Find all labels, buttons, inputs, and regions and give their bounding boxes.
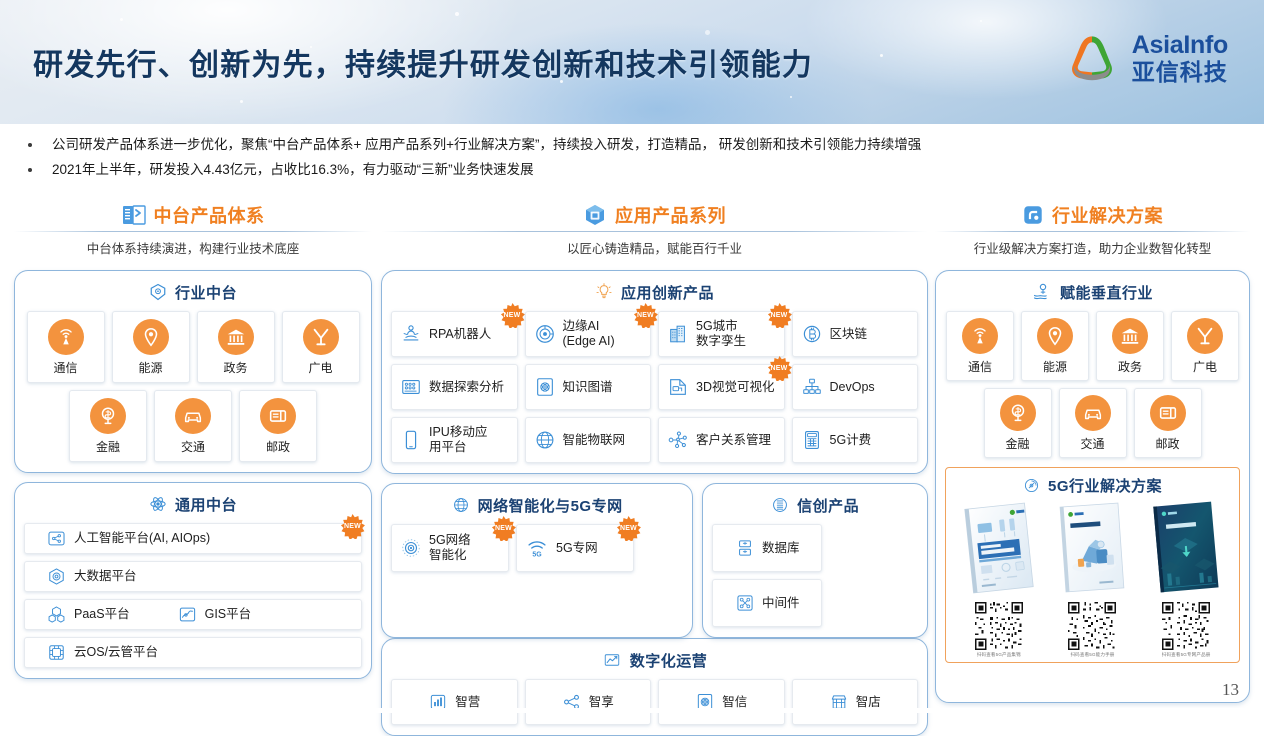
industry-tile-row: 通信 能源 政务 广电	[24, 311, 362, 383]
panel-digital-operations: 数字化运营 智营 智享 智信 智店	[381, 638, 928, 736]
panel-header: 应用创新产品	[391, 279, 918, 305]
logo-text-en: AsiaInfo	[1132, 33, 1228, 58]
panel-xinchuang: 信创产品 数据库 中间件	[702, 483, 928, 638]
industry-tile-nengyuan[interactable]: 能源	[1021, 311, 1089, 381]
broadcast-icon	[303, 319, 339, 355]
qr-code	[1162, 602, 1210, 650]
cloud-os-icon	[47, 643, 66, 662]
industry-tile-label: 能源	[138, 359, 162, 376]
data-explore-icon	[400, 376, 422, 398]
app-chip-edge-ai[interactable]: 边缘AI (Edge AI) NEW	[525, 311, 652, 357]
document-stack-icon	[771, 496, 789, 514]
industry-tile-zhengwu[interactable]: 政务	[197, 311, 275, 383]
panel-title: 通用中台	[175, 494, 237, 515]
industry-tile-tongxin[interactable]: 通信	[946, 311, 1014, 381]
brochure-row: 扫码查看5G产品集锦	[952, 500, 1233, 658]
platform-row-label: 大数据平台	[74, 569, 137, 584]
app-chip-label: IPU移动应 用平台	[429, 425, 487, 455]
panel-title: 数字化运营	[630, 650, 708, 671]
panel-title: 信创产品	[797, 495, 859, 516]
panel-header: 信创产品	[712, 492, 918, 518]
xc-chip-database[interactable]: 数据库	[712, 524, 822, 572]
platform-row-paas-gis[interactable]: PaaS平台 GIS平台	[24, 599, 362, 630]
app-chip-devops[interactable]: DevOps	[792, 364, 919, 410]
brochure-cover	[1145, 500, 1227, 596]
crm-node-icon	[667, 429, 689, 451]
broadcast-icon	[1187, 318, 1223, 354]
gis-icon	[178, 605, 197, 624]
network-radar-icon	[400, 537, 422, 559]
brochure-item[interactable]: 扫码查看5G产品集锦	[958, 500, 1040, 658]
xinchuang-chip-row: 数据库 中间件	[712, 524, 918, 627]
app-chip-label: 数据探索分析	[429, 380, 504, 395]
industry-tile-guangdian[interactable]: 广电	[282, 311, 360, 383]
platform-row-label: 云OS/云管平台	[74, 645, 158, 660]
column-subtitle: 中台体系持续演进，构建行业技术底座	[14, 230, 372, 263]
panel-vertical-industries: 赋能垂直行业 通信 能源	[935, 270, 1250, 703]
industry-tile-label: 能源	[1043, 358, 1067, 375]
ops-chip-zhidian[interactable]: 智店	[792, 679, 919, 725]
brochure-item[interactable]: 扫码查看5G专网产品册	[1145, 500, 1227, 658]
new-badge: NEW	[491, 516, 516, 541]
app-chip-label: DevOps	[830, 380, 875, 395]
ops-chip-zhixiang[interactable]: 智享	[525, 679, 652, 725]
app-chip-knowledge-graph[interactable]: 知识图谱	[525, 364, 652, 410]
bullet-dot-icon	[28, 168, 32, 172]
industry-tile-zhengwu[interactable]: 政务	[1096, 311, 1164, 381]
app-chip-label: 区块链	[830, 327, 868, 342]
industry-tile-label: 通信	[968, 358, 992, 375]
xc-chip-label: 中间件	[762, 596, 800, 611]
enable-hand-icon	[1032, 282, 1052, 302]
database-icon	[735, 538, 755, 558]
app-chip-label: 5G城市 数字孪生	[696, 319, 746, 349]
qr-caption: 扫码查看5G专网产品册	[1145, 652, 1227, 658]
bullet-item: 2021年上半年，研发投入4.43亿元，占收比16.3%，有力驱动“三新”业务快…	[0, 157, 1264, 182]
car-icon	[175, 398, 211, 434]
bank-icon	[218, 319, 254, 355]
xc-chip-label: 数据库	[762, 541, 800, 556]
panel-header: 网络智能化与5G专网	[391, 492, 683, 518]
industry-tile-label: 广电	[1193, 358, 1217, 375]
car-icon	[1075, 395, 1111, 431]
industry-tile-guangdian[interactable]: 广电	[1171, 311, 1239, 381]
ops-chip-zhixin[interactable]: 智信	[658, 679, 785, 725]
panel-header: 行业中台	[24, 279, 362, 305]
globe-net-icon	[534, 429, 556, 451]
column-middle-platform: 中台产品体系 中台体系持续演进，构建行业技术底座 行业中台 通信	[14, 200, 372, 679]
panel-title: 行业中台	[175, 282, 237, 303]
industry-tile-label: 邮政	[1155, 435, 1179, 452]
qr-caption: 扫码查看5G能力手册	[1051, 652, 1133, 658]
ai-share-icon	[47, 529, 66, 548]
money-icon	[1000, 395, 1036, 431]
brochure-cover	[1051, 500, 1133, 596]
lightbulb-icon	[595, 283, 613, 301]
robot-icon	[400, 323, 422, 345]
industry-tile-label: 广电	[308, 359, 332, 376]
solution-square-icon	[1022, 204, 1044, 226]
app-chip-label: 5G计费	[830, 433, 872, 448]
5g-disc-icon	[1023, 477, 1040, 494]
platform-subitem-label: GIS平台	[205, 607, 252, 622]
column-application-products: 应用产品系列 以匠心铸造精品，赋能百行千业 应用创新产品 RPA机器人 NEW	[381, 200, 928, 736]
3d-view-icon	[667, 376, 689, 398]
industry-tile-row: 金融 交通 邮政	[24, 390, 362, 462]
footer-divider	[0, 708, 1264, 713]
bullet-dot-icon	[28, 143, 32, 147]
app-chip-label: 智能物联网	[563, 433, 626, 448]
mailbox-icon	[260, 398, 296, 434]
location-pin-icon	[133, 319, 169, 355]
industry-tile-jinrong[interactable]: 金融	[984, 388, 1052, 458]
atom-icon	[149, 495, 167, 513]
panel-5g-solutions: 5G行业解决方案	[945, 467, 1240, 663]
asiainfo-logo: AsiaInfo 亚信科技	[1062, 28, 1228, 88]
industry-tile-jiaotong[interactable]: 交通	[154, 390, 232, 462]
net-chip-5g-intelligent[interactable]: 5G网络 智能化 NEW	[391, 524, 509, 572]
panel-header: 赋能垂直行业	[945, 279, 1240, 305]
bullet-text: 2021年上半年，研发投入4.43亿元，占收比16.3%，有力驱动“三新”业务快…	[52, 159, 534, 180]
cube-box-icon	[583, 203, 607, 227]
panel-general-platform: 通用中台 人工智能平台(AI, AIOps) NEW 大数据平台	[14, 482, 372, 679]
industry-tile-label: 金融	[96, 438, 120, 455]
app-chip-blockchain[interactable]: 区块链	[792, 311, 919, 357]
shield-hex-icon	[149, 283, 167, 301]
column-title: 中台产品体系	[154, 202, 265, 228]
digital-ops-grid: 智营 智享 智信 智店	[391, 679, 918, 725]
panel-header: 通用中台	[24, 491, 362, 517]
qr-code	[975, 602, 1023, 650]
industry-tile-youzheng[interactable]: 邮政	[239, 390, 317, 462]
industry-tile-label: 交通	[1080, 435, 1104, 452]
app-chip-label: RPA机器人	[429, 327, 491, 342]
bank-icon	[1112, 318, 1148, 354]
app-chip-3d-visual[interactable]: 3D视觉可视化 NEW	[658, 364, 785, 410]
paas-icon	[47, 605, 66, 624]
ops-chip-zhiying[interactable]: 智营	[391, 679, 518, 725]
bullet-text: 公司研发产品体系进一步优化，聚焦“中台产品体系+ 应用产品系列+行业解决方案”，…	[52, 134, 921, 155]
column-industry-solutions: 行业解决方案 行业级解决方案打造，助力企业数智化转型 赋能垂直行业 通信	[935, 200, 1250, 703]
net-chip-label: 5G专网	[556, 541, 598, 556]
column-header: 中台产品体系	[14, 200, 372, 230]
industry-tile-label: 邮政	[266, 438, 290, 455]
platform-row-cloudos[interactable]: 云OS/云管平台	[24, 637, 362, 668]
industry-tile-label: 政务	[1118, 358, 1142, 375]
chart-trend-icon	[602, 651, 622, 669]
mailbox-icon	[1150, 395, 1186, 431]
qr-caption: 扫码查看5G产品集锦	[958, 652, 1040, 658]
network-chip-row: 5G网络 智能化 NEW 5G 5G专网 NEW	[391, 524, 683, 572]
industry-tile-label: 金融	[1005, 435, 1029, 452]
new-badge: NEW	[340, 514, 365, 539]
industry-tile-row: 金融 交通 邮政	[945, 388, 1240, 458]
app-chip-iot[interactable]: 智能物联网	[525, 417, 652, 463]
devops-tree-icon	[801, 376, 823, 398]
column-subtitle: 行业级解决方案打造，助力企业数智化转型	[935, 230, 1250, 263]
globe-grid-icon	[452, 496, 470, 514]
industry-tile-tongxin[interactable]: 通信	[27, 311, 105, 383]
svg-text:5G: 5G	[532, 552, 541, 559]
industry-tile-nengyuan[interactable]: 能源	[112, 311, 190, 383]
panel-header: 数字化运营	[391, 647, 918, 673]
column-title: 应用产品系列	[615, 202, 726, 228]
panel-row-network-xinchuang: 网络智能化与5G专网 5G网络 智能化 NEW 5G 5G专网 NEW	[381, 483, 928, 638]
platform-subitem-label: PaaS平台	[74, 607, 130, 622]
industry-tile-row: 通信 能源 政务 广电	[945, 311, 1240, 381]
edge-ai-icon	[534, 323, 556, 345]
xc-chip-middleware[interactable]: 中间件	[712, 579, 822, 627]
new-badge: NEW	[767, 303, 792, 328]
page-title: 研发先行、创新为先，持续提升研发创新和技术引领能力	[33, 40, 813, 84]
panel-title: 赋能垂直行业	[1060, 282, 1153, 303]
location-pin-icon	[1037, 318, 1073, 354]
wifi-5g-icon: 5G	[525, 537, 549, 559]
platform-row-bigdata[interactable]: 大数据平台	[24, 561, 362, 592]
app-chip-5g-city-twin[interactable]: 5G城市 数字孪生 NEW	[658, 311, 785, 357]
city-building-icon	[667, 323, 689, 345]
brochure-item[interactable]: 扫码查看5G能力手册	[1051, 500, 1133, 658]
page-number: 13	[1222, 680, 1239, 700]
app-chip-rpa[interactable]: RPA机器人 NEW	[391, 311, 518, 357]
qr-code	[1068, 602, 1116, 650]
industry-tile-label: 交通	[181, 438, 205, 455]
signal-tower-icon	[48, 319, 84, 355]
app-chip-label: 3D视觉可视化	[696, 380, 774, 395]
column-header: 应用产品系列	[381, 200, 928, 230]
app-chip-label: 客户关系管理	[696, 433, 771, 448]
middle-platform-icon	[122, 204, 146, 226]
industry-tile-label: 通信	[53, 359, 77, 376]
new-badge: NEW	[616, 516, 641, 541]
bigdata-icon	[47, 567, 66, 586]
platform-row-ai[interactable]: 人工智能平台(AI, AIOps) NEW	[24, 523, 362, 554]
app-chip-label: 知识图谱	[563, 380, 613, 395]
signal-tower-icon	[962, 318, 998, 354]
bullet-list: 公司研发产品体系进一步优化，聚焦“中台产品体系+ 应用产品系列+行业解决方案”，…	[0, 132, 1264, 182]
industry-tile-youzheng[interactable]: 邮政	[1134, 388, 1202, 458]
new-badge: NEW	[767, 356, 792, 381]
content-columns: 中台产品体系 中台体系持续演进，构建行业技术底座 行业中台 通信	[0, 200, 1264, 705]
app-product-grid: RPA机器人 NEW 边缘AI (Edge AI) NEW 5G城市 数字孪生 …	[391, 311, 918, 463]
panel-network-5g: 网络智能化与5G专网 5G网络 智能化 NEW 5G 5G专网 NEW	[381, 483, 693, 638]
panel-title: 5G行业解决方案	[1048, 475, 1162, 496]
mobile-phone-icon	[400, 429, 422, 451]
new-badge: NEW	[633, 303, 658, 328]
app-chip-data-explore[interactable]: 数据探索分析	[391, 364, 518, 410]
app-chip-5g-billing[interactable]: 5G计费	[792, 417, 919, 463]
blockchain-icon	[801, 323, 823, 345]
knowledge-graph-icon	[534, 376, 556, 398]
app-chip-label: 边缘AI (Edge AI)	[563, 319, 615, 349]
panel-header: 5G行业解决方案	[952, 474, 1233, 496]
panel-title: 应用创新产品	[621, 282, 714, 303]
panel-innovative-apps: 应用创新产品 RPA机器人 NEW 边缘AI (Edge AI) NEW 5G城…	[381, 270, 928, 474]
asiainfo-logo-mark	[1062, 28, 1122, 88]
platform-subitem-paas[interactable]: PaaS平台	[47, 605, 130, 624]
column-title: 行业解决方案	[1052, 202, 1163, 228]
industry-tile-jiaotong[interactable]: 交通	[1059, 388, 1127, 458]
new-badge: NEW	[500, 303, 525, 328]
platform-row-label: 人工智能平台(AI, AIOps)	[74, 531, 210, 546]
app-chip-ipu-mobile[interactable]: IPU移动应 用平台	[391, 417, 518, 463]
logo-text-cn: 亚信科技	[1132, 61, 1228, 84]
column-subtitle: 以匠心铸造精品，赋能百行千业	[381, 230, 928, 263]
bullet-item: 公司研发产品体系进一步优化，聚焦“中台产品体系+ 应用产品系列+行业解决方案”，…	[0, 132, 1264, 157]
middleware-icon	[735, 593, 755, 613]
industry-tile-jinrong[interactable]: 金融	[69, 390, 147, 462]
slide-header: 研发先行、创新为先，持续提升研发创新和技术引领能力 AsiaInfo 亚信科技	[0, 0, 1264, 124]
panel-title: 网络智能化与5G专网	[478, 495, 623, 516]
platform-subitem-gis[interactable]: GIS平台	[178, 605, 252, 624]
industry-tile-label: 政务	[223, 359, 247, 376]
net-chip-5g-private[interactable]: 5G 5G专网 NEW	[516, 524, 634, 572]
brochure-cover	[958, 500, 1040, 596]
column-header: 行业解决方案	[935, 200, 1250, 230]
app-chip-crm[interactable]: 客户关系管理	[658, 417, 785, 463]
panel-industry-platform: 行业中台 通信 能源	[14, 270, 372, 473]
billing-icon	[801, 429, 823, 451]
net-chip-label: 5G网络 智能化	[429, 533, 471, 563]
money-icon	[90, 398, 126, 434]
